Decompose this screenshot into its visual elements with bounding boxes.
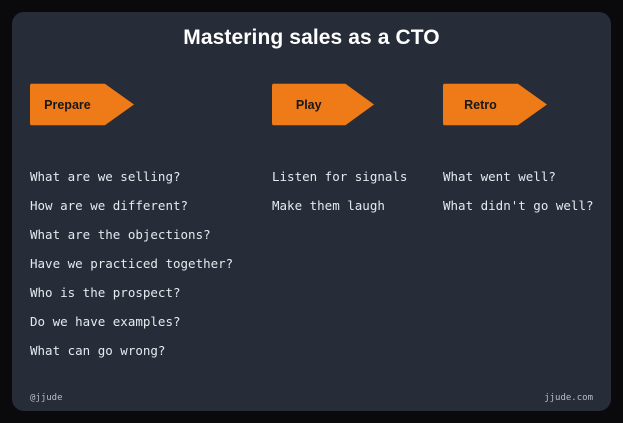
- footer-site-link[interactable]: jjude.com: [544, 393, 593, 403]
- list-item: How are we different?: [30, 191, 270, 220]
- arrow-shape-icon: [272, 82, 374, 127]
- list-item: Who is the prospect?: [30, 278, 270, 307]
- phase-arrow-retro[interactable]: Retro: [443, 82, 547, 127]
- list-item: Listen for signals: [272, 162, 437, 191]
- footer-handle: @jjude: [30, 393, 63, 403]
- list-item: What didn't go well?: [443, 191, 608, 220]
- list-item: What went well?: [443, 162, 608, 191]
- slide-card: Mastering sales as a CTO Prepare What ar…: [12, 12, 611, 411]
- phase-column-retro: What went well? What didn't go well?: [443, 162, 608, 220]
- list-item: What are we selling?: [30, 162, 270, 191]
- phase-column-prepare: What are we selling? How are we differen…: [30, 162, 270, 365]
- list-item: What are the objections?: [30, 220, 270, 249]
- list-item: Make them laugh: [272, 191, 437, 220]
- list-item: Have we practiced together?: [30, 249, 270, 278]
- arrow-shape-icon: [30, 82, 134, 127]
- phase-arrow-prepare[interactable]: Prepare: [30, 82, 134, 127]
- phase-column-play: Listen for signals Make them laugh: [272, 162, 437, 220]
- list-item: What can go wrong?: [30, 336, 270, 365]
- slide-footer: @jjude jjude.com: [12, 387, 611, 403]
- phase-arrow-play[interactable]: Play: [272, 82, 374, 127]
- list-item: Do we have examples?: [30, 307, 270, 336]
- arrow-shape-icon: [443, 82, 547, 127]
- page-title: Mastering sales as a CTO: [12, 26, 611, 50]
- slide-frame: Mastering sales as a CTO Prepare What ar…: [0, 0, 623, 423]
